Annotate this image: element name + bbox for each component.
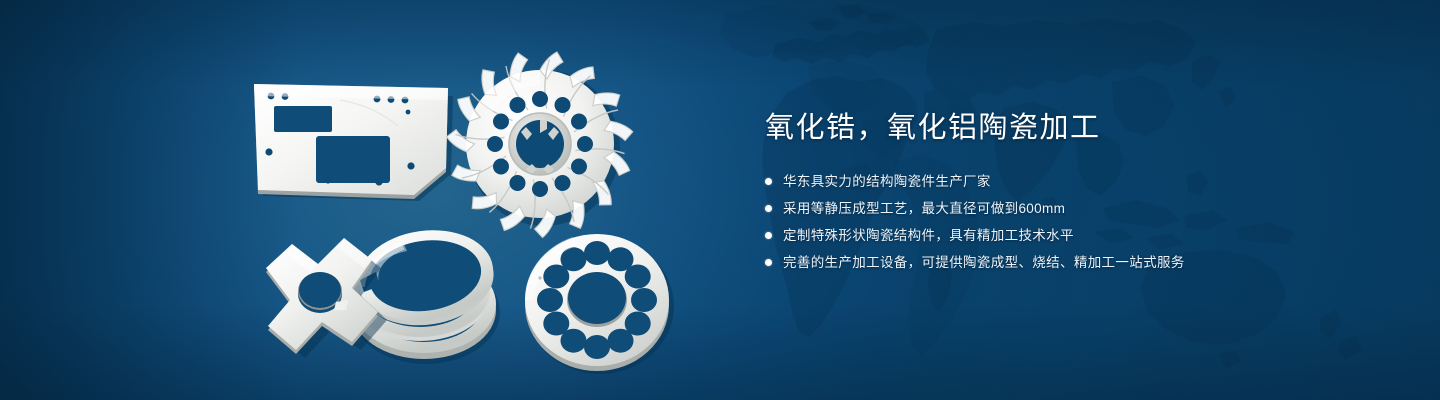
page-title: 氧化锆，氧化铝陶瓷加工 bbox=[765, 110, 1385, 146]
bullet-text: 华东具实力的结构陶瓷件生产厂家 bbox=[783, 170, 991, 193]
ceramic-impeller-part bbox=[452, 52, 632, 232]
list-item: 采用等静压成型工艺，最大直径可做到600mm bbox=[765, 197, 1385, 220]
banner-copy-block: 氧化锆，氧化铝陶瓷加工 华东具实力的结构陶瓷件生产厂家 采用等静压成型工艺，最大… bbox=[765, 110, 1385, 278]
bullet-text: 完善的生产加工设备，可提供陶瓷成型、烧结、精加工一站式服务 bbox=[783, 251, 1185, 274]
ceramic-processing-banner: 氧化锆，氧化铝陶瓷加工 华东具实力的结构陶瓷件生产厂家 采用等静压成型工艺，最大… bbox=[0, 0, 1440, 400]
bullet-dot-icon bbox=[765, 178, 772, 185]
ceramic-holed-disc-part bbox=[512, 226, 684, 376]
bullet-text: 定制特殊形状陶瓷结构件，具有精加工技术水平 bbox=[783, 224, 1074, 247]
bullet-dot-icon bbox=[765, 232, 772, 239]
ceramic-cross-rotor-part bbox=[252, 228, 402, 368]
list-item: 华东具实力的结构陶瓷件生产厂家 bbox=[765, 170, 1385, 193]
bullet-dot-icon bbox=[765, 205, 772, 212]
list-item: 完善的生产加工设备，可提供陶瓷成型、烧结、精加工一站式服务 bbox=[765, 251, 1385, 274]
list-item: 定制特殊形状陶瓷结构件，具有精加工技术水平 bbox=[765, 224, 1385, 247]
ceramic-parts-photo-group bbox=[0, 0, 720, 400]
bullet-text: 采用等静压成型工艺，最大直径可做到600mm bbox=[783, 197, 1065, 220]
ceramic-plate-part bbox=[248, 78, 458, 203]
feature-bullet-list: 华东具实力的结构陶瓷件生产厂家 采用等静压成型工艺，最大直径可做到600mm 定… bbox=[765, 170, 1385, 274]
bullet-dot-icon bbox=[765, 259, 772, 266]
